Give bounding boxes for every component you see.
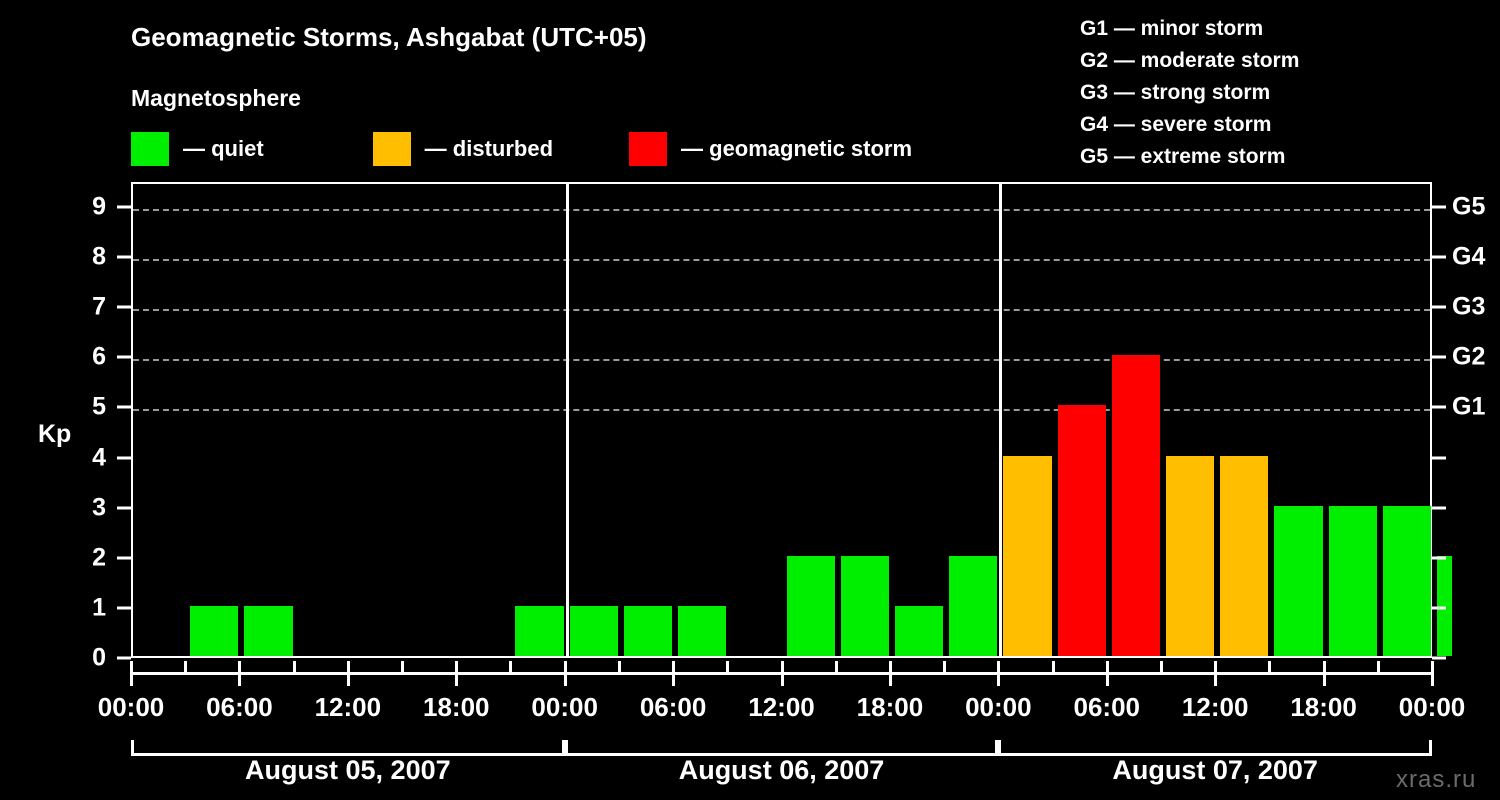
bar	[1274, 506, 1322, 656]
y-tick-mark-0	[117, 657, 131, 660]
bar	[1329, 506, 1377, 656]
bar	[1112, 355, 1160, 656]
x-tick-label: 00:00	[531, 692, 598, 723]
bar	[1003, 456, 1051, 656]
y-tick-label-9: 9	[66, 193, 106, 222]
gridline-kp-8	[133, 259, 1430, 261]
x-tick-label: 06:00	[206, 692, 273, 723]
y-tick-mark-6	[117, 356, 131, 359]
y-tick-mark-3	[117, 506, 131, 509]
gridline-kp-7	[133, 309, 1430, 311]
y-tick-label-1: 1	[66, 593, 106, 622]
legend-item-storm: — geomagnetic storm	[629, 131, 912, 167]
x-tick-label: 06:00	[640, 692, 707, 723]
storm-scale-g5: G5 — extreme storm	[1080, 141, 1299, 173]
g-tick-mark-minor-3	[1432, 506, 1446, 509]
bar	[1383, 506, 1431, 656]
legend-item-quiet: — quiet	[131, 131, 264, 167]
x-tick-label: 00:00	[965, 692, 1032, 723]
disturbed-swatch	[373, 132, 411, 166]
y-tick-mark-7	[117, 306, 131, 309]
g-tick-mark-G3	[1432, 306, 1446, 309]
bar	[949, 556, 997, 656]
x-tick-label: 12:00	[315, 692, 382, 723]
bar	[841, 556, 889, 656]
y-tick-label-5: 5	[66, 393, 106, 422]
bar	[570, 606, 618, 656]
gridline-kp-6	[133, 359, 1430, 361]
bar	[787, 556, 835, 656]
y-tick-mark-4	[117, 456, 131, 459]
storm-scale-g1: G1 — minor storm	[1080, 13, 1299, 45]
y-tick-mark-2	[117, 556, 131, 559]
y-tick-mark-1	[117, 606, 131, 609]
legend-label-storm: — geomagnetic storm	[681, 136, 912, 162]
g-tick-mark-G1	[1432, 406, 1446, 409]
g-tick-mark-minor-4	[1432, 456, 1446, 459]
day-bracket	[131, 740, 565, 756]
y-tick-label-4: 4	[66, 443, 106, 472]
x-tick-label: 00:00	[98, 692, 165, 723]
bar	[244, 606, 292, 656]
g-tick-mark-G5	[1432, 206, 1446, 209]
gridline-kp-5	[133, 409, 1430, 411]
legend-item-disturbed: — disturbed	[373, 131, 553, 167]
watermark: xras.ru	[1396, 766, 1476, 794]
y-tick-mark-5	[117, 406, 131, 409]
bar	[895, 606, 943, 656]
g-tick-mark-minor-1	[1432, 606, 1446, 609]
y-tick-label-8: 8	[66, 243, 106, 272]
storm-scale-legend: G1 — minor storm G2 — moderate storm G3 …	[1080, 13, 1299, 173]
y-tick-label-3: 3	[66, 493, 106, 522]
y-tick-mark-8	[117, 256, 131, 259]
g-tick-mark-G4	[1432, 256, 1446, 259]
x-tick-label: 18:00	[1290, 692, 1357, 723]
magnetosphere-label: Magnetosphere	[131, 85, 301, 112]
bar	[1220, 456, 1268, 656]
bar	[624, 606, 672, 656]
g-tick-label-G4: G4	[1452, 243, 1485, 272]
day-label: August 05, 2007	[245, 755, 451, 786]
y-tick-label-7: 7	[66, 293, 106, 322]
x-axis-line	[131, 672, 1432, 675]
y-tick-mark-9	[117, 206, 131, 209]
x-tick-label: 12:00	[748, 692, 815, 723]
storm-scale-g3: G3 — strong storm	[1080, 77, 1299, 109]
storm-scale-g2: G2 — moderate storm	[1080, 45, 1299, 77]
x-tick-label: 06:00	[1074, 692, 1141, 723]
storm-swatch	[629, 132, 667, 166]
day-label: August 06, 2007	[679, 755, 885, 786]
g-tick-label-G1: G1	[1452, 393, 1485, 422]
bar	[190, 606, 238, 656]
day-bracket	[998, 740, 1432, 756]
legend: — quiet — disturbed — geomagnetic storm	[131, 131, 912, 167]
x-tick-label: 18:00	[423, 692, 490, 723]
g-tick-label-G3: G3	[1452, 293, 1485, 322]
day-label: August 07, 2007	[1112, 755, 1318, 786]
plot-inner	[133, 184, 1430, 656]
bar	[1166, 456, 1214, 656]
g-tick-mark-G2	[1432, 356, 1446, 359]
bar	[678, 606, 726, 656]
plot-area	[131, 182, 1432, 658]
page-title: Geomagnetic Storms, Ashgabat (UTC+05)	[131, 22, 647, 53]
legend-label-quiet: — quiet	[183, 136, 264, 162]
day-bracket	[565, 740, 999, 756]
y-tick-label-0: 0	[66, 644, 106, 673]
day-divider	[566, 184, 569, 656]
y-tick-label-6: 6	[66, 343, 106, 372]
x-tick-label: 00:00	[1399, 692, 1466, 723]
day-divider	[999, 184, 1002, 656]
x-tick-label: 12:00	[1182, 692, 1249, 723]
bar	[1058, 405, 1106, 656]
y-tick-label-2: 2	[66, 543, 106, 572]
g-tick-label-G2: G2	[1452, 343, 1485, 372]
g-tick-mark-minor-0	[1432, 657, 1446, 660]
gridline-kp-9	[133, 209, 1430, 211]
quiet-swatch	[131, 132, 169, 166]
bar	[515, 606, 563, 656]
storm-scale-g4: G4 — severe storm	[1080, 109, 1299, 141]
g-tick-label-G5: G5	[1452, 193, 1485, 222]
x-tick-label: 18:00	[857, 692, 924, 723]
g-tick-mark-minor-2	[1432, 556, 1446, 559]
legend-label-disturbed: — disturbed	[425, 136, 553, 162]
